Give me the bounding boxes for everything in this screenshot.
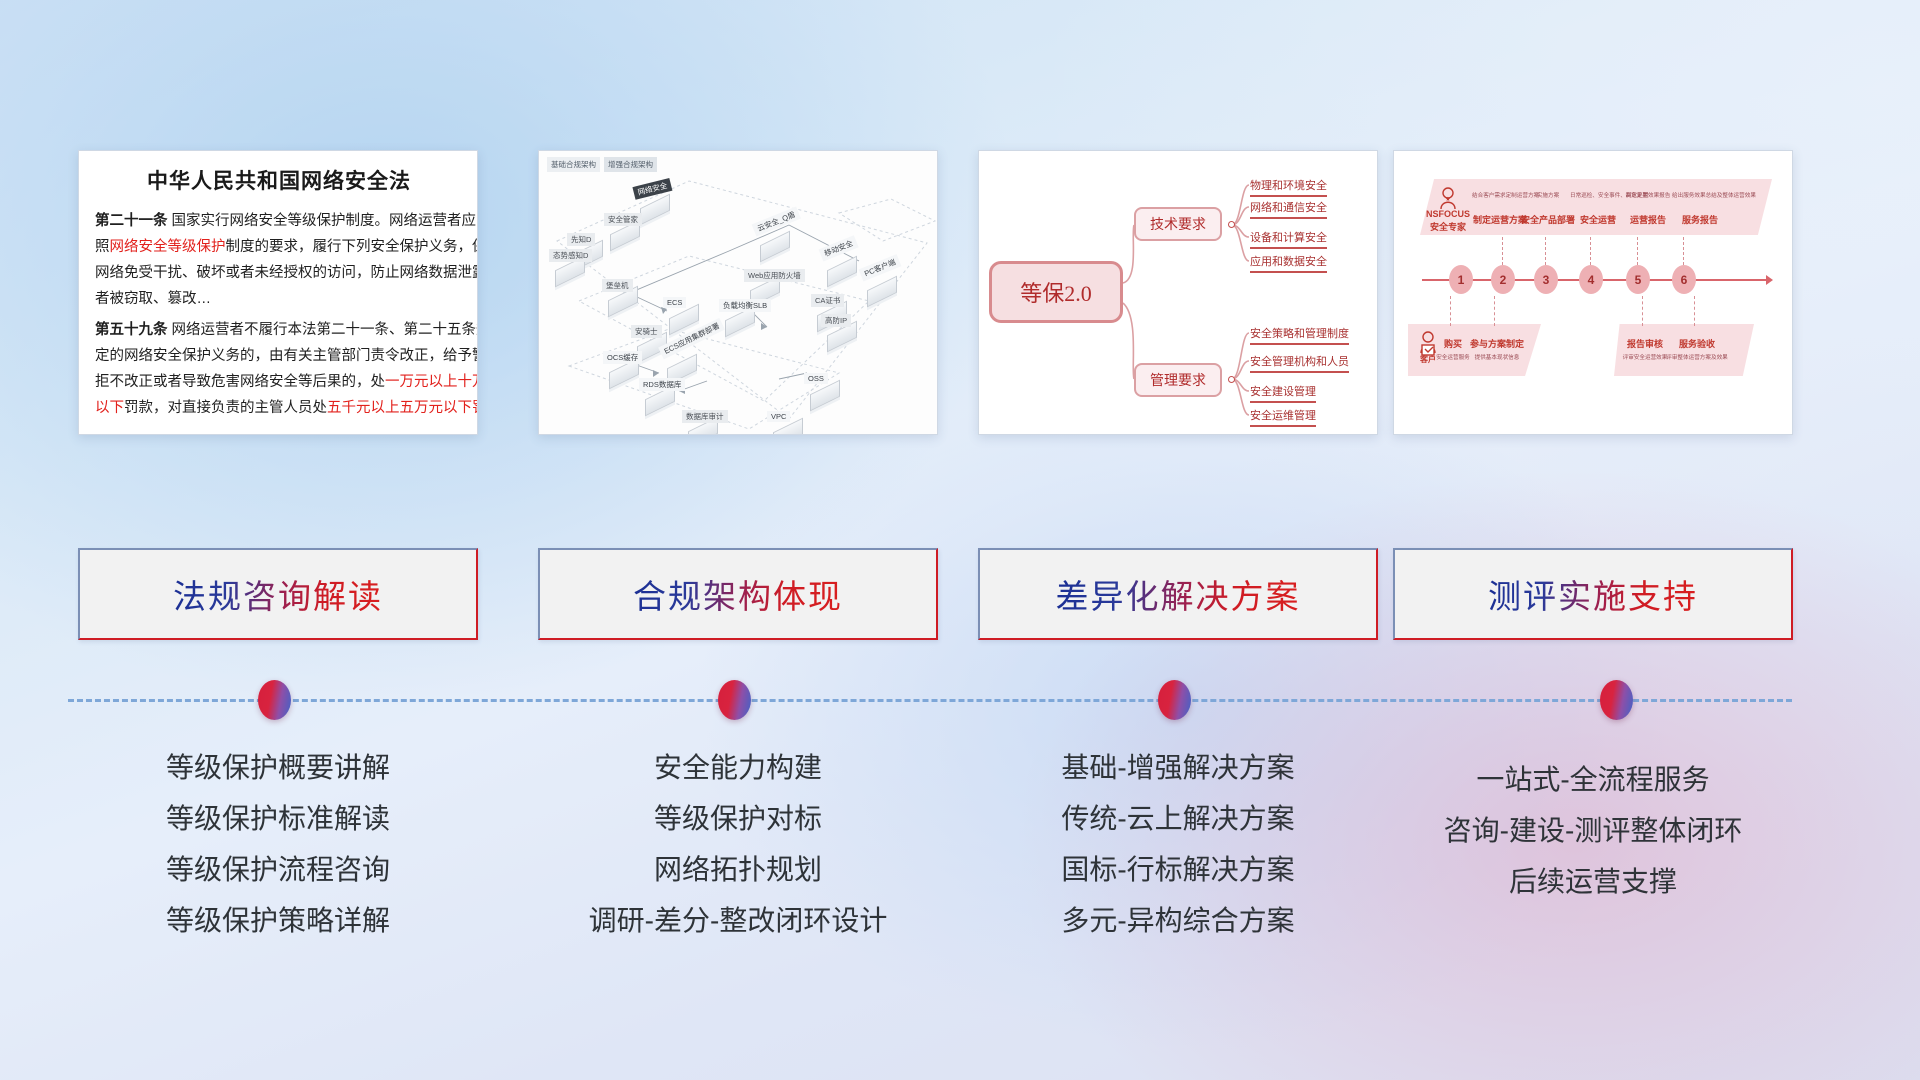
nsfocus-step-number-6[interactable]: 6 bbox=[1672, 265, 1696, 294]
mindmap-leaf: 网络和通信安全 bbox=[1250, 199, 1327, 219]
nsfocus-connector bbox=[1590, 237, 1591, 265]
card-law-document: 中华人民共和国网络安全法 第二十一条 国家实行网络安全等级保护制度。网络运营者应… bbox=[78, 150, 478, 435]
svg-text:★: ★ bbox=[1445, 196, 1450, 203]
column-item: 等级保护流程咨询 bbox=[78, 844, 478, 895]
column-item: 安全能力构建 bbox=[538, 742, 938, 793]
mindmap-leaf: 安全建设管理 bbox=[1250, 383, 1316, 403]
law-highlight: 网络安全等级保护 bbox=[110, 239, 226, 255]
column-item: 后续运营支撑 bbox=[1393, 856, 1793, 907]
mindmap-collapse-dot-management[interactable] bbox=[1228, 376, 1235, 383]
law-document: 中华人民共和国网络安全法 第二十一条 国家实行网络安全等级保护制度。网络运营者应… bbox=[79, 151, 477, 421]
law-article-number: 第二十一条 bbox=[95, 213, 168, 229]
law-body: 第二十一条 国家实行网络安全等级保护制度。网络运营者应当按照网络安全等级保护制度… bbox=[95, 208, 463, 421]
law-title: 中华人民共和国网络安全法 bbox=[95, 165, 463, 195]
mindmap-leaf: 设备和计算安全 bbox=[1250, 229, 1327, 249]
column-assessment-support: 一站式-全流程服务咨询-建设-测评整体闭环后续运营支撑 bbox=[1393, 754, 1793, 907]
card-architecture-diagram: 基础合规架构 增强合规架构 bbox=[538, 150, 938, 435]
architecture-canvas: 基础合规架构 增强合规架构 bbox=[539, 151, 937, 434]
header-box-compliance-architecture[interactable]: 合规架构体现 bbox=[538, 548, 938, 640]
card-nsfocus-timeline: ★ NSFOCUS 安全专家 客户 123456结合客户需求定制运营方案制定运营… bbox=[1393, 150, 1793, 435]
column-item: 等级保护对标 bbox=[538, 793, 938, 844]
mindmap-leaf: 安全运维管理 bbox=[1250, 407, 1316, 427]
mindmap-leaf: 应用和数据安全 bbox=[1250, 253, 1327, 273]
nsfocus-connector bbox=[1502, 237, 1503, 265]
law-paragraph: 第二十一条 国家实行网络安全等级保护制度。网络运营者应当按照网络安全等级保护制度… bbox=[95, 208, 463, 312]
architecture-node-label: Web应用防火墙 bbox=[744, 269, 805, 282]
header-box-regulation-consulting[interactable]: 法规咨询解读 bbox=[78, 548, 478, 640]
nsfocus-connector bbox=[1450, 296, 1451, 326]
architecture-node-label: RDS数据库 bbox=[639, 378, 685, 391]
nsfocus-axis-arrow-icon bbox=[1766, 275, 1773, 285]
nsfocus-brand: NSFOCUS bbox=[1418, 209, 1478, 219]
column-regulation-consulting: 等级保护概要讲解等级保护标准解读等级保护流程咨询等级保护策略详解 bbox=[78, 742, 478, 946]
architecture-node-label: CA证书 bbox=[811, 294, 844, 307]
column-item: 一站式-全流程服务 bbox=[1393, 754, 1793, 805]
nsfocus-bottom-caption: 评审整体运营方案及效果 bbox=[1666, 353, 1728, 361]
column-compliance-architecture: 安全能力构建等级保护对标网络拓扑规划调研-差分-整改闭环设计 bbox=[538, 742, 938, 946]
card-mindmap: 等保2.0 技术要求 管理要求 物理和环境安全网络和通信安全设备和计算安全应用和… bbox=[978, 150, 1378, 435]
timeline-dot-2[interactable] bbox=[718, 680, 751, 720]
nsfocus-step-number-5[interactable]: 5 bbox=[1626, 265, 1650, 294]
architecture-node-label: 高防IP bbox=[821, 314, 851, 327]
nsfocus-top-caption: 日常巡检、安全事件、高危处置 bbox=[1570, 191, 1626, 199]
law-highlight: 一万元以上十万元 bbox=[385, 374, 478, 390]
architecture-node-label: OCS缓存 bbox=[603, 351, 642, 364]
timeline-dot-4[interactable] bbox=[1600, 680, 1633, 720]
nsfocus-expert-role: 安全专家 bbox=[1418, 220, 1478, 233]
nsfocus-top-caption: 给出服务效果总结及整体运营效果 bbox=[1672, 191, 1728, 199]
law-text: 制度的要求，履行下列安全保护义务，保障 bbox=[226, 239, 479, 255]
nsfocus-connector bbox=[1642, 296, 1643, 326]
header-label: 合规架构体现 bbox=[633, 570, 843, 618]
column-item: 基础-增强解决方案 bbox=[978, 742, 1378, 793]
mindmap-branch-technical: 技术要求 bbox=[1134, 207, 1222, 241]
bullet-columns: 等级保护概要讲解等级保护标准解读等级保护流程咨询等级保护策略详解 安全能力构建等… bbox=[0, 742, 1920, 972]
law-text: 网络免受干扰、破坏或者未经授权的访问，防止网络数据泄露或 bbox=[95, 265, 478, 281]
law-text: 定的网络安全保护义务的，由有关主管部门责令改正，给予警告； bbox=[95, 348, 478, 364]
architecture-node-label: 堡垒机 bbox=[602, 279, 633, 292]
nsfocus-step-number-3[interactable]: 3 bbox=[1534, 265, 1558, 294]
nsfocus-step-number-1[interactable]: 1 bbox=[1449, 265, 1473, 294]
timeline bbox=[0, 660, 1920, 740]
column-item: 多元-异构综合方案 bbox=[978, 895, 1378, 946]
nsfocus-connector bbox=[1545, 237, 1546, 265]
architecture-node-label: VPC bbox=[767, 411, 790, 422]
nsfocus-top-title: 安全产品部署 bbox=[1520, 213, 1576, 226]
nsfocus-top-title: 服务报告 bbox=[1672, 213, 1728, 226]
law-text: 罚款，对直接负责的主管人员处 bbox=[124, 400, 327, 416]
mindmap-leaf: 安全管理机构和人员 bbox=[1250, 353, 1349, 373]
nsfocus-step-number-2[interactable]: 2 bbox=[1491, 265, 1515, 294]
column-item: 等级保护策略详解 bbox=[78, 895, 478, 946]
timeline-dot-3[interactable] bbox=[1158, 680, 1191, 720]
nsfocus-bottom-title: 参与方案制定 bbox=[1466, 337, 1528, 350]
nsfocus-top-title: 安全运营 bbox=[1570, 213, 1626, 226]
column-item: 等级保护概要讲解 bbox=[78, 742, 478, 793]
architecture-node-label: 态势感知D bbox=[549, 249, 592, 262]
column-differentiated-solution: 基础-增强解决方案传统-云上解决方案国标-行标解决方案多元-异构综合方案 bbox=[978, 742, 1378, 946]
nsfocus-connector bbox=[1494, 296, 1495, 326]
nsfocus-top-title: 运营报告 bbox=[1620, 213, 1676, 226]
law-highlight: 以下 bbox=[95, 400, 124, 416]
law-text: 者被窃取、篡改… bbox=[95, 291, 211, 307]
law-text: 网络运营者不履行本法第二十一条、第二十五条规 bbox=[168, 322, 479, 338]
mindmap-leaf: 物理和环境安全 bbox=[1250, 177, 1327, 197]
column-item: 等级保护标准解读 bbox=[78, 793, 478, 844]
architecture-node-label: 负载均衡SLB bbox=[719, 299, 771, 312]
cards-row: 中华人民共和国网络安全法 第二十一条 国家实行网络安全等级保护制度。网络运营者应… bbox=[0, 150, 1920, 450]
column-item: 调研-差分-整改闭环设计 bbox=[538, 895, 938, 946]
law-highlight: 五千元以上五万元以下罚款。 bbox=[327, 400, 478, 416]
architecture-node-label: 安骑士 bbox=[631, 325, 662, 338]
nsfocus-bottom-caption: 提供基本现状信息 bbox=[1466, 353, 1528, 361]
law-article-number: 第五十九条 bbox=[95, 322, 168, 338]
mindmap-collapse-dot-technical[interactable] bbox=[1228, 221, 1235, 228]
column-item: 国标-行标解决方案 bbox=[978, 844, 1378, 895]
law-text: 国家实行网络安全等级保护制度。网络运营者应当按 bbox=[168, 213, 479, 229]
nsfocus-connector bbox=[1683, 237, 1684, 265]
mindmap-root: 等保2.0 bbox=[989, 261, 1123, 323]
law-text: 拒不改正或者导致危害网络安全等后果的，处 bbox=[95, 374, 385, 390]
nsfocus-top-caption: 制定定期效果报告 bbox=[1620, 191, 1676, 199]
nsfocus-top-caption: 实施方案 bbox=[1520, 191, 1576, 199]
headers-row: 法规咨询解读 合规架构体现 差异化解决方案 测评实施支持 bbox=[0, 548, 1920, 644]
architecture-node-label: OSS bbox=[804, 373, 828, 384]
nsfocus-step-number-4[interactable]: 4 bbox=[1579, 265, 1603, 294]
header-label: 测评实施支持 bbox=[1488, 570, 1698, 618]
architecture-node-label: 安全管家 bbox=[604, 213, 642, 226]
nsfocus-connector bbox=[1637, 237, 1638, 265]
law-paragraph: 第五十九条 网络运营者不履行本法第二十一条、第二十五条规定的网络安全保护义务的，… bbox=[95, 317, 463, 421]
law-text: 照 bbox=[95, 239, 110, 255]
slide-canvas: 中华人民共和国网络安全法 第二十一条 国家实行网络安全等级保护制度。网络运营者应… bbox=[0, 0, 1920, 1080]
architecture-node-label: 先知D bbox=[567, 233, 595, 246]
mindmap-leaf: 安全策略和管理制度 bbox=[1250, 325, 1349, 345]
header-box-assessment-support[interactable]: 测评实施支持 bbox=[1393, 548, 1793, 640]
column-item: 网络拓扑规划 bbox=[538, 844, 938, 895]
column-item: 传统-云上解决方案 bbox=[978, 793, 1378, 844]
timeline-dashed-line bbox=[68, 699, 1792, 702]
architecture-node-label: 数据库审计 bbox=[682, 410, 728, 423]
timeline-dot-1[interactable] bbox=[258, 680, 291, 720]
header-label: 差异化解决方案 bbox=[1056, 570, 1301, 618]
nsfocus-canvas: ★ NSFOCUS 安全专家 客户 123456结合客户需求定制运营方案制定运营… bbox=[1394, 151, 1792, 434]
architecture-node-label: ECS bbox=[663, 297, 686, 308]
nsfocus-connector bbox=[1694, 296, 1695, 326]
mindmap-canvas: 等保2.0 技术要求 管理要求 物理和环境安全网络和通信安全设备和计算安全应用和… bbox=[979, 151, 1377, 434]
header-box-differentiated-solution[interactable]: 差异化解决方案 bbox=[978, 548, 1378, 640]
nsfocus-bottom-title: 服务验收 bbox=[1666, 337, 1728, 350]
mindmap-branch-management: 管理要求 bbox=[1134, 363, 1222, 397]
header-label: 法规咨询解读 bbox=[173, 570, 383, 618]
column-item: 咨询-建设-测评整体闭环 bbox=[1393, 805, 1793, 856]
